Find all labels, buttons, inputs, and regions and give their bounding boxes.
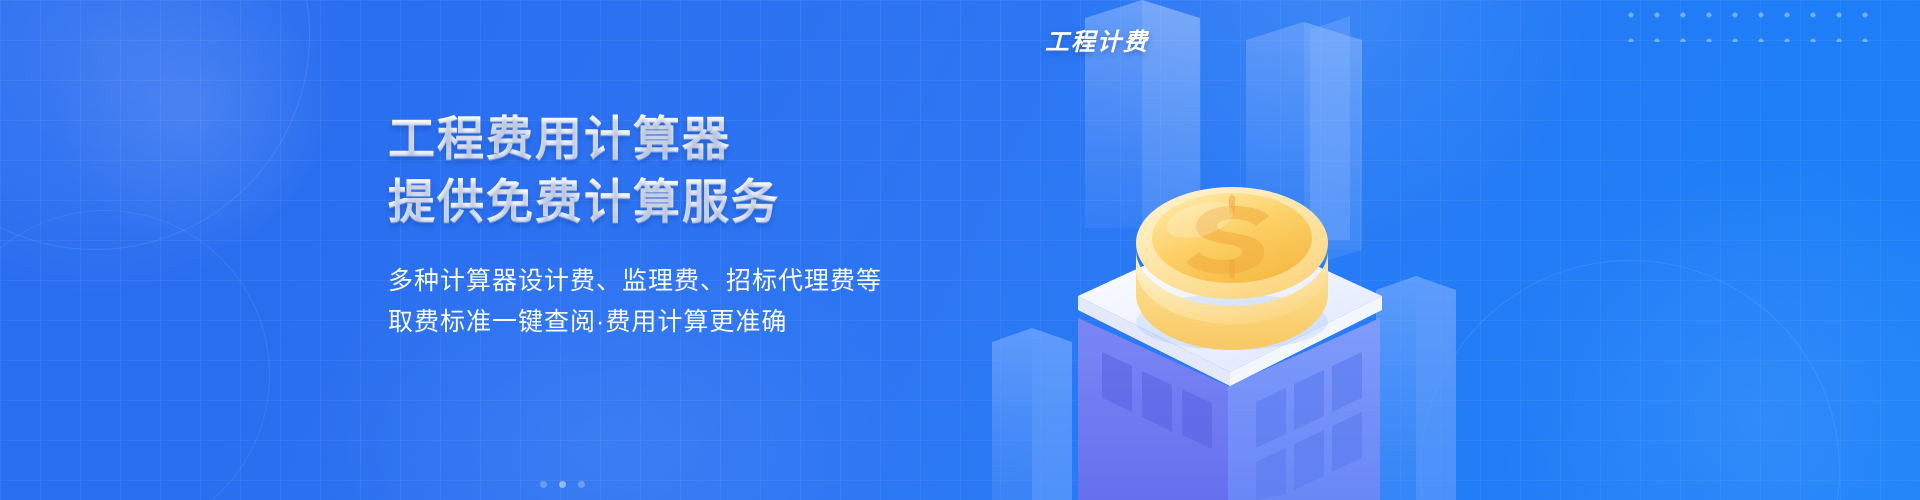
banner-description-line-2: 取费标准一键查阅·费用计算更准确 (388, 302, 882, 343)
banner-title-line-2: 提供免费计算服务 (388, 173, 882, 231)
illustration-badge-label: 工程计费 (1045, 22, 1149, 57)
hero-banner: 工程费用计算器 提供免费计算服务 多种计算器设计费、监理费、招标代理费等 取费标… (0, 0, 1920, 500)
carousel-dot-3[interactable] (578, 481, 585, 488)
decorative-circle-top-left (0, 0, 310, 250)
banner-copy-block: 工程费用计算器 提供免费计算服务 多种计算器设计费、监理费、招标代理费等 取费标… (388, 110, 882, 343)
illustration: 工程计费 (880, 0, 1640, 500)
dot-matrix-decoration (1618, 2, 1868, 42)
dollar-coin-icon (1136, 187, 1328, 350)
carousel-indicators[interactable] (540, 481, 585, 488)
carousel-dot-1[interactable] (540, 481, 547, 488)
banner-title-line-1: 工程费用计算器 (388, 110, 882, 168)
banner-description-line-1: 多种计算器设计费、监理费、招标代理费等 (388, 261, 882, 302)
carousel-dot-2[interactable] (559, 481, 566, 488)
isometric-building-icon (880, 0, 1640, 500)
decorative-circle-left (0, 210, 270, 500)
